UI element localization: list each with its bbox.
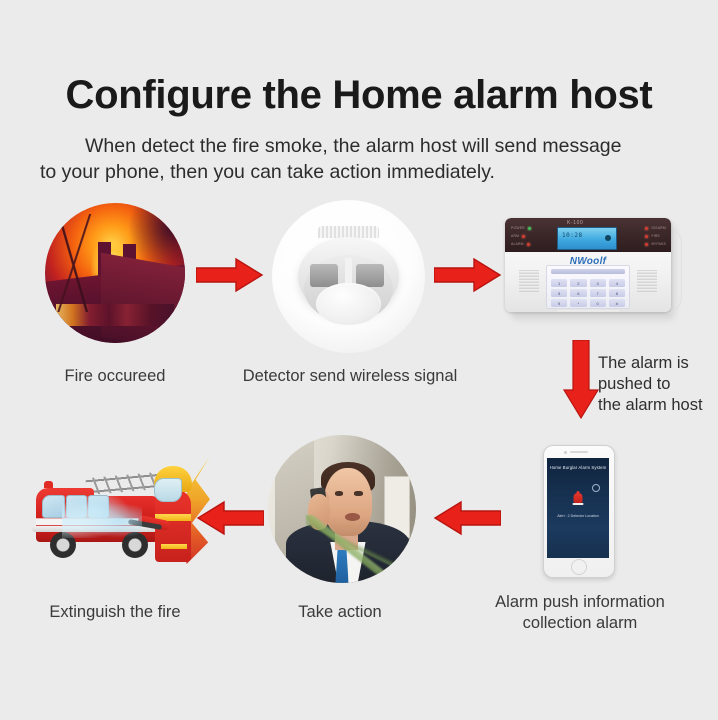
alarm-host-led-row: FIRE [645,234,666,238]
smartphone-screen: Home Burglar Alarm System Alert : 2 Dete… [547,458,609,558]
alarm-host-key[interactable]: 6 [570,289,586,297]
man-photo-eye-left [335,491,344,495]
alarm-bell-base [573,503,584,506]
fire-photo-tree-branch [48,214,101,312]
arrow-action-to-truck-icon [196,500,264,536]
alarm-host-stand [557,310,619,312]
burning-house-photo [45,203,185,343]
subtitle-line-2: to your phone, then you can take action … [40,159,688,185]
alarm-host-key[interactable]: 8 [609,289,625,297]
alarm-host-led-label: BYPASS [651,242,666,246]
alarm-host-led-row: ALARM [511,242,531,246]
alarm-host-key[interactable]: 5 [551,289,567,297]
alarm-host-lcd-text: 10:28 [562,232,583,239]
alarm-host-lcd-indicator [605,235,611,241]
alarm-host-model-label: K-100 [567,220,583,226]
alarm-host-led-label: ARM [511,234,519,238]
alarm-host-led-label: FIRE [651,234,660,238]
fire-photo-roof-side [101,253,185,343]
fire-truck-illustration [28,448,206,580]
firefighter-stripe-lower [161,544,187,549]
push-note-line-1: The alarm is [598,353,718,374]
alarm-host-led-label: POWER [511,226,525,230]
alarm-host-led-fire-icon [645,235,648,238]
smartphone-app-title: Home Burglar Alarm System [547,465,609,470]
alarm-host-key[interactable]: 9 [551,299,567,307]
alarm-host-led-row: DISARM [645,226,666,230]
caption-detector-signal: Detector send wireless signal [225,366,475,387]
alarm-bell-icon [573,491,584,505]
smoke-detector-photo [272,200,425,353]
subtitle-line-1: When detect the fire smoke, the alarm ho… [40,133,688,159]
alarm-host-key[interactable]: * [570,299,586,307]
fire-truck-beacon-light [44,481,53,488]
alarm-host-led-disarm-icon [645,227,648,230]
fire-truck-ladder [85,472,162,496]
alarm-host-led-row: ARM [511,234,531,238]
alarm-host-panel: K-100 10:28 POWER ARM ALARM [505,218,677,320]
arrow-detector-to-host-icon [434,257,502,293]
gear-icon[interactable] [592,484,600,492]
man-photo-foreground-leaves [306,515,410,583]
arrow-fire-to-detector-icon [196,257,264,293]
alarm-host-speaker-left [519,270,539,292]
alarm-host-top-bar: K-100 10:28 POWER ARM ALARM [505,218,671,252]
push-note-line-3: the alarm host [598,395,718,416]
smartphone-earpiece [570,451,588,453]
push-note-line-2: pushed to [598,374,718,395]
caption-alarm-push-line-2: collection alarm [450,613,710,634]
arrow-phone-to-action-icon [433,500,501,536]
page-title: Configure the Home alarm host [0,74,718,116]
alarm-host-key[interactable]: # [609,299,625,307]
alarm-host-key[interactable]: 2 [570,279,586,287]
alarm-host-key-bar[interactable] [551,269,625,274]
infographic-page: Configure the Home alarm host When detec… [0,0,718,720]
alarm-host-led-bypass-icon [645,243,648,246]
caption-alarm-push: Alarm push information collection alarm [450,592,710,633]
alarm-host-keypad[interactable]: 1 2 3 4 5 6 7 8 9 * 0 # [546,265,630,309]
smartphone-alert: Home Burglar Alarm System Alert : 2 Dete… [543,445,615,578]
smartphone-home-button[interactable] [571,559,587,575]
alarm-host-led-row: BYPASS [645,242,666,246]
smartphone-camera-icon [564,451,567,454]
firefighter-face-mask [154,478,182,502]
caption-extinguish-fire: Extinguish the fire [25,602,205,623]
alarm-host-led-arm-icon [522,235,525,238]
alarm-host-speaker-right [637,270,657,292]
page-subtitle: When detect the fire smoke, the alarm ho… [40,133,688,186]
arrow-host-to-phone-icon [562,340,600,420]
man-on-phone-photo [268,435,416,583]
push-note-text: The alarm is pushed to the alarm host [598,353,718,416]
alarm-host-led-alarm-icon [527,243,530,246]
caption-take-action: Take action [250,602,430,623]
alarm-host-key[interactable]: 4 [609,279,625,287]
smartphone-alert-caption: Alert : 2 Detector Location [547,514,609,518]
alarm-host-key[interactable]: 0 [590,299,606,307]
detector-vent-left [310,264,338,287]
detector-cap [316,283,380,326]
caption-alarm-push-line-1: Alarm push information [450,592,710,613]
alarm-host-led-group-left: POWER ARM ALARM [511,226,531,246]
alarm-host-lcd-display: 10:28 [557,227,617,250]
alarm-host-led-row: POWER [511,226,531,230]
alarm-host-key[interactable]: 7 [590,289,606,297]
alarm-host-body: K-100 10:28 POWER ARM ALARM [505,218,671,312]
alarm-host-led-label: DISARM [651,226,665,230]
alarm-host-led-group-right: DISARM FIRE BYPASS [645,226,666,246]
alarm-host-led-power-icon [528,227,531,230]
alarm-host-key[interactable]: 3 [590,279,606,287]
alarm-bell-body [574,493,583,503]
alarm-host-led-label: ALARM [511,242,524,246]
man-photo-eye-right [354,491,363,495]
alarm-host-key[interactable]: 1 [551,279,567,287]
water-spray [62,496,142,538]
caption-fire-occurred: Fire occureed [25,366,205,387]
